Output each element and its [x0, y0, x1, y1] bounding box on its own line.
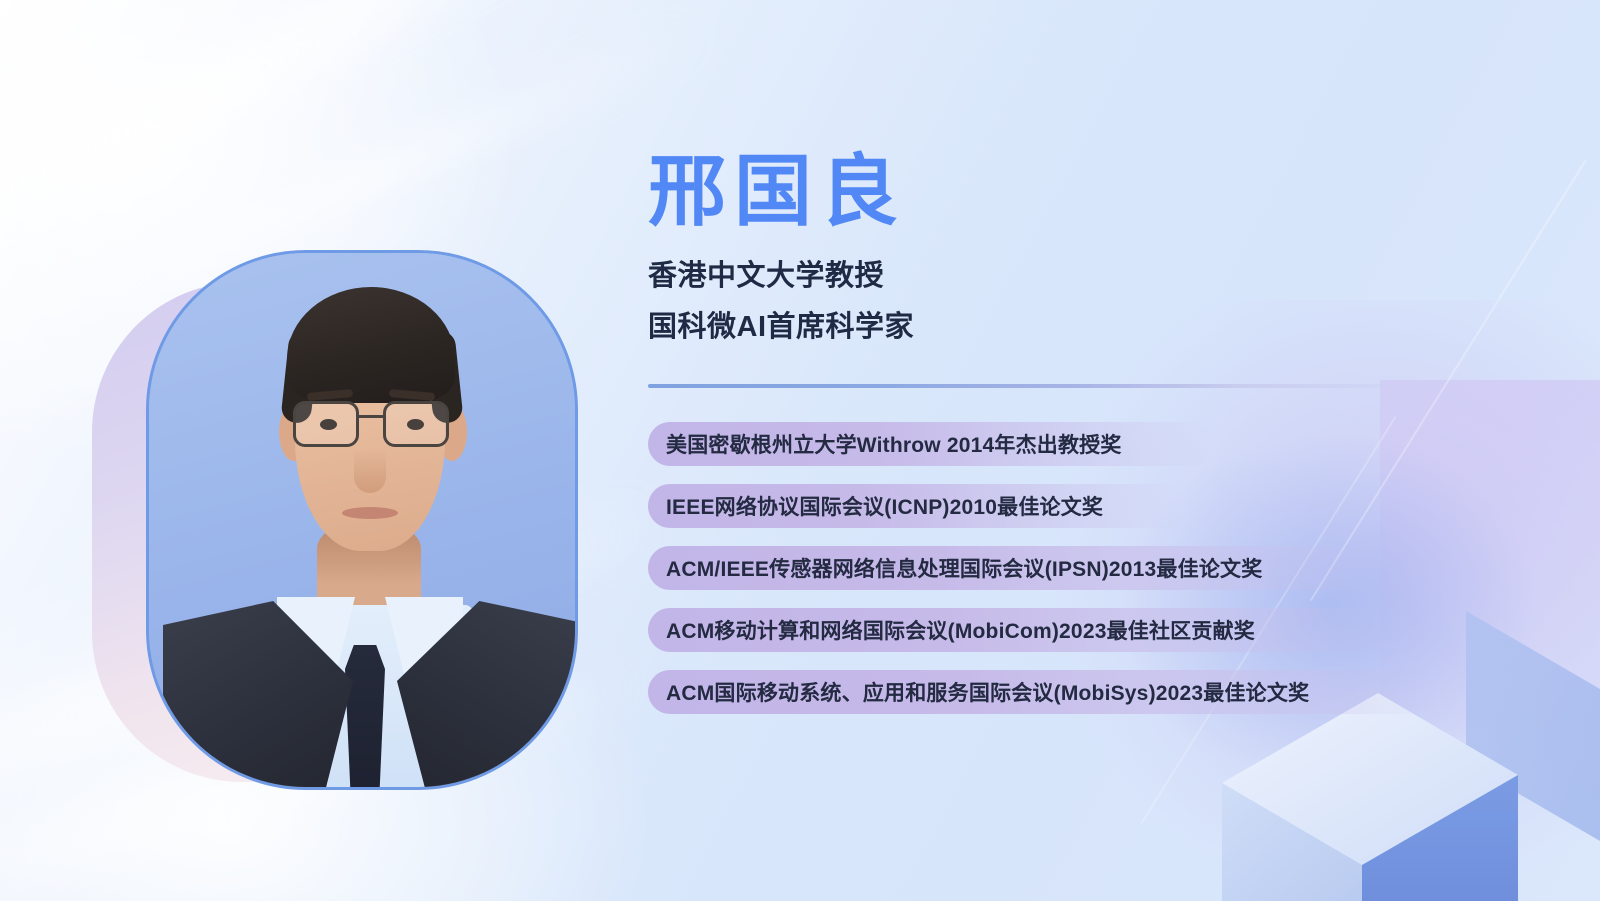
portrait-frame-blue [146, 250, 578, 790]
award-label: IEEE网络协议国际会议(ICNP)2010最佳论文奖 [666, 491, 1103, 521]
award-label: ACM移动计算和网络国际会议(MobiCom)2023最佳社区贡献奖 [666, 615, 1255, 645]
speaker-titles: 香港中文大学教授 国科微AI首席科学家 [648, 255, 1538, 350]
speaker-photo [149, 253, 575, 787]
award-label: 美国密歇根州立大学Withrow 2014年杰出教授奖 [666, 429, 1122, 459]
speaker-name: 邢国良 [648, 150, 1538, 233]
portrait [92, 250, 592, 810]
awards-list: 美国密歇根州立大学Withrow 2014年杰出教授奖 IEEE网络协议国际会议… [648, 422, 1538, 714]
award-label: ACM国际移动系统、应用和服务国际会议(MobiSys)2023最佳论文奖 [666, 677, 1309, 707]
award-item: ACM移动计算和网络国际会议(MobiCom)2023最佳社区贡献奖 [648, 608, 1393, 652]
section-divider [648, 384, 1438, 388]
speaker-title-1: 香港中文大学教授 [648, 255, 1538, 299]
award-item: ACM国际移动系统、应用和服务国际会议(MobiSys)2023最佳论文奖 [648, 670, 1438, 714]
award-item: IEEE网络协议国际会议(ICNP)2010最佳论文奖 [648, 484, 1183, 528]
award-label: ACM/IEEE传感器网络信息处理国际会议(IPSN)2013最佳论文奖 [666, 553, 1262, 583]
award-item: 美国密歇根州立大学Withrow 2014年杰出教授奖 [648, 422, 1213, 466]
profile-content: 邢国良 香港中文大学教授 国科微AI首席科学家 美国密歇根州立大学Withrow… [648, 150, 1538, 732]
speaker-profile-card: 邢国良 香港中文大学教授 国科微AI首席科学家 美国密歇根州立大学Withrow… [0, 0, 1600, 901]
speaker-title-2: 国科微AI首席科学家 [648, 306, 1538, 350]
award-item: ACM/IEEE传感器网络信息处理国际会议(IPSN)2013最佳论文奖 [648, 546, 1378, 590]
